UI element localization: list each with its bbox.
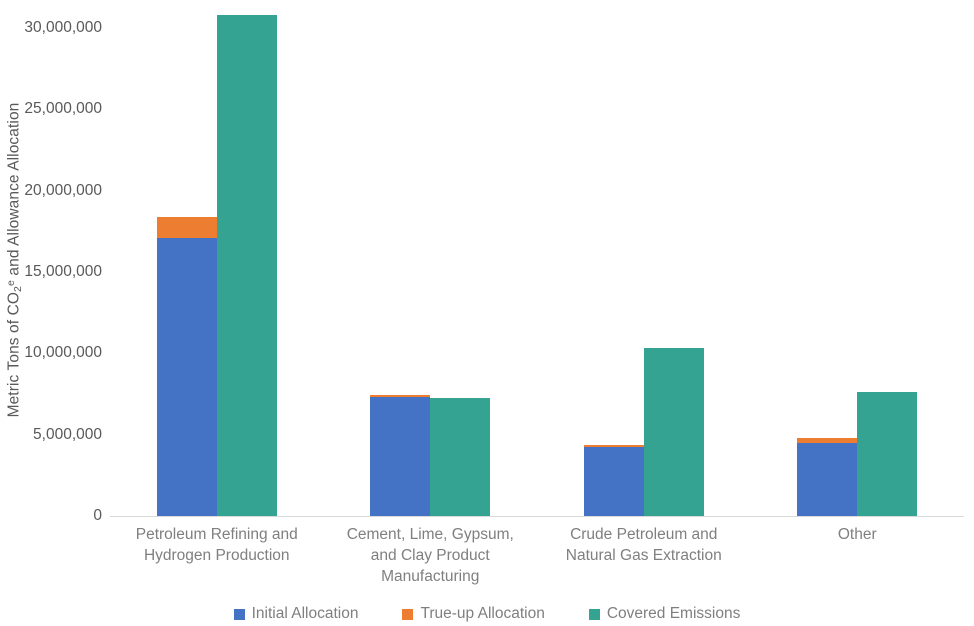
legend-label: Initial Allocation [252,605,359,623]
bar-segment-initial-allocation[interactable] [370,397,430,516]
legend-item[interactable]: Initial Allocation [234,605,359,623]
y-axis-tick-label: 25,000,000 [10,101,102,117]
y-axis-tick-labels: 05,000,00010,000,00015,000,00020,000,000… [10,0,102,626]
legend-label: True-up Allocation [420,605,544,623]
x-axis-category-label: Other [751,524,965,545]
y-axis-tick-label: 15,000,000 [10,264,102,280]
bar-segment-true-up-allocation[interactable] [157,217,217,238]
bar-segment-true-up-allocation[interactable] [584,445,644,447]
y-axis-tick-label: 20,000,000 [10,183,102,199]
x-axis-category-labels: Petroleum Refining and Hydrogen Producti… [110,524,964,594]
bar-segment-covered-emissions[interactable] [430,398,490,516]
x-axis-category-label: Petroleum Refining and Hydrogen Producti… [110,524,324,566]
bar-segment-initial-allocation[interactable] [584,447,644,516]
bar-segment-covered-emissions[interactable] [857,392,917,516]
legend-item[interactable]: Covered Emissions [589,605,741,623]
bar-allocation-stack[interactable] [370,395,430,516]
bar-segment-true-up-allocation[interactable] [797,438,857,443]
bar-segment-true-up-allocation[interactable] [370,395,430,397]
legend-swatch-icon [402,609,413,620]
x-axis-line [110,516,964,517]
y-axis-tick-label: 0 [10,508,102,524]
bar-segment-covered-emissions[interactable] [644,348,704,516]
bar-segment-initial-allocation[interactable] [157,238,217,516]
x-axis-category-label: Cement, Lime, Gypsum, and Clay Product M… [324,524,538,587]
plot-area [110,20,964,516]
legend-item[interactable]: True-up Allocation [402,605,544,623]
bar-allocation-stack[interactable] [584,445,644,516]
chart-legend: Initial AllocationTrue-up AllocationCove… [0,602,974,626]
bar-segment-initial-allocation[interactable] [797,443,857,516]
y-axis-tick-label: 10,000,000 [10,345,102,361]
legend-swatch-icon [234,609,245,620]
x-axis-category-label: Crude Petroleum and Natural Gas Extracti… [537,524,751,566]
y-axis-tick-label: 5,000,000 [10,427,102,443]
legend-label: Covered Emissions [607,605,741,623]
legend-swatch-icon [589,609,600,620]
bar-segment-covered-emissions[interactable] [217,15,277,516]
bar-allocation-stack[interactable] [157,217,217,516]
bar-chart: Metric Tons of CO2e and Allowance Alloca… [0,0,974,626]
bar-allocation-stack[interactable] [797,438,857,516]
y-axis-tick-label: 30,000,000 [10,20,102,36]
